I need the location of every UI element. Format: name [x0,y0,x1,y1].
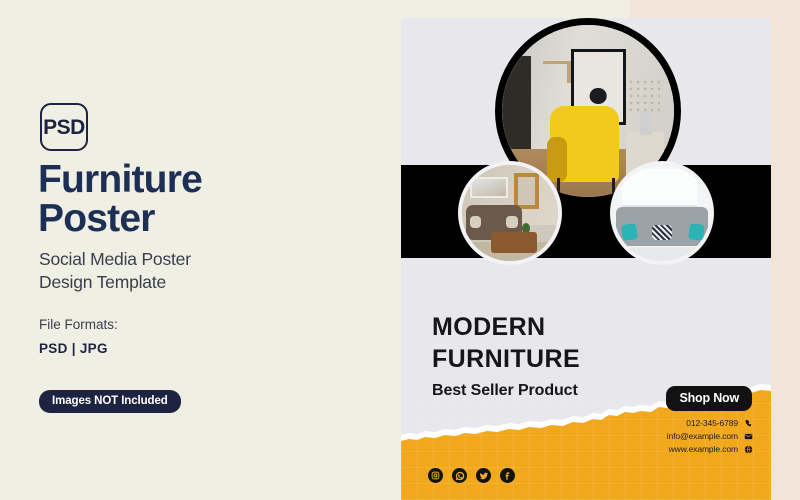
teal-pillow [688,223,705,241]
title-line-2: Poster [38,199,378,238]
subtitle: Social Media Poster Design Template [39,248,369,294]
subtitle-line-1: Social Media Poster [39,248,369,271]
wall-art [470,177,508,198]
contact-row-website: www.example.com [667,444,753,454]
coffee-table [491,232,537,253]
vase [640,111,652,135]
whatsapp-icon[interactable] [452,468,467,483]
file-formats-value: PSD | JPG [39,341,108,356]
instagram-icon[interactable] [428,468,443,483]
contact-row-phone: 012-345-6789 [667,418,753,428]
coffee-table [620,248,704,261]
cushion [470,216,482,228]
headline-line-2: FURNITURE [432,343,580,375]
contact-phone-text: 012-345-6789 [686,418,738,428]
shop-now-button[interactable]: Shop Now [666,386,752,411]
twitter-icon[interactable] [476,468,491,483]
contact-website-text: www.example.com [669,444,738,454]
poster-preview[interactable]: MODERN FURNITURE Best Seller Product [401,18,771,500]
contact-email-text: info@example.com [667,431,738,441]
window [622,169,697,207]
psd-logo-label: PSD [43,117,85,138]
room-grey-sofa-image [610,161,714,265]
social-links[interactable] [428,468,515,483]
twigs [629,77,660,115]
file-formats-label: File Formats: [39,317,118,332]
psd-logo: PSD [40,103,88,151]
subtitle-line-2: Design Template [39,271,369,294]
contact-info: 012-345-6789 info@example.com www.exa [667,418,753,457]
room-brown-sofa-image [458,161,562,265]
phone-icon [744,419,753,428]
doorway [514,173,539,209]
facebook-icon[interactable] [500,468,515,483]
globe-icon [744,445,753,454]
page-title: Furniture Poster [38,160,378,238]
headline-line-1: MODERN [432,311,580,343]
dark-door [502,56,531,163]
contact-row-email: info@example.com [667,431,753,441]
patterned-pillow [652,225,671,240]
status-badge: Images NOT Included [39,390,181,413]
title-line-1: Furniture [38,160,378,199]
wall-art-dot [590,88,607,103]
teal-pillow [621,223,638,241]
mail-icon [744,432,753,441]
left-info-panel: PSD Furniture Poster Social Media Poster… [0,0,400,500]
poster-footer: Shop Now 012-345-6789 info@example.com [401,380,771,500]
cushion [506,216,518,228]
